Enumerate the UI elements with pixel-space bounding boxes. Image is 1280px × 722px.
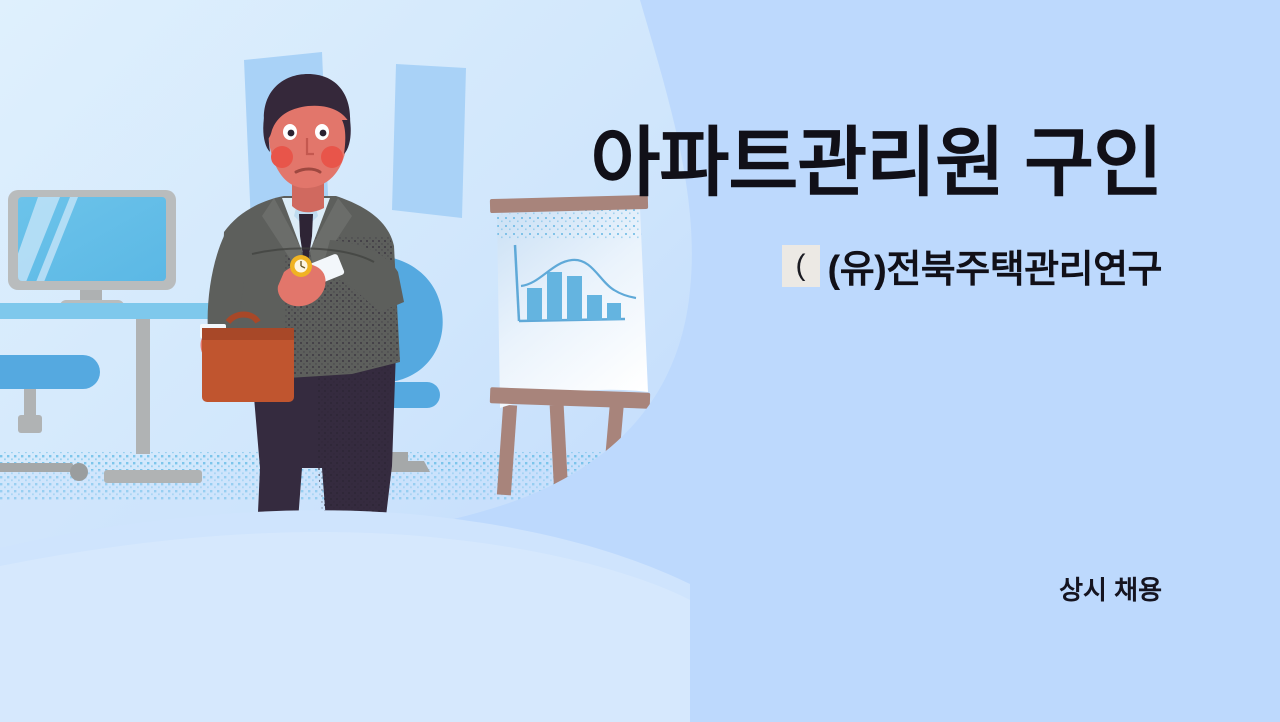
chart-bar [527,288,542,320]
desk-foot [104,470,202,483]
illustration-canvas [0,0,1280,722]
chart-bar [567,276,582,320]
chair-seat [0,355,100,389]
cheek-right [321,146,343,168]
pupil-left [288,130,295,137]
chart-bar [547,272,562,320]
pupil-right [320,130,327,137]
desk-leg [136,319,150,454]
chair-caster [70,463,88,481]
desk-top [0,303,210,319]
cheek-left [271,146,293,168]
wall-poster-right [392,64,466,218]
chart-bar [587,295,602,320]
job-posting-poster: 아파트관리원 구인 ( (유)전북주택관리연구 상시 채용 [0,0,1280,722]
briefcase-lid [202,328,294,340]
chair-hub [18,415,42,433]
chart-bar [607,303,621,320]
chair-base [0,463,78,472]
